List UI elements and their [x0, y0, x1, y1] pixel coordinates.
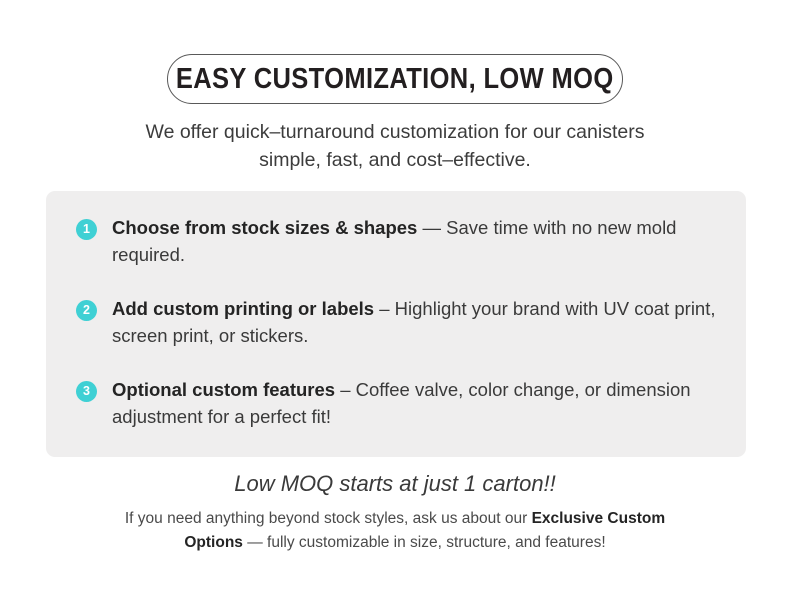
footer-line-2: Options — fully customizable in size, st…	[0, 531, 790, 555]
subtitle-line-2: simple, fast, and cost–effective.	[0, 146, 790, 174]
page-title: EASY CUSTOMIZATION, LOW MOQ	[176, 65, 614, 94]
promo-page: EASY CUSTOMIZATION, LOW MOQ We offer qui…	[0, 0, 790, 609]
footer-note: If you need anything beyond stock styles…	[0, 507, 790, 555]
feature-text: Add custom printing or labels – Highligh…	[112, 295, 720, 349]
subtitle-line-1: We offer quick–turnaround customization …	[0, 118, 790, 146]
feature-item: 3 Optional custom features – Coffee valv…	[76, 376, 720, 430]
footer-line-1: If you need anything beyond stock styles…	[0, 507, 790, 531]
subtitle: We offer quick–turnaround customization …	[0, 118, 790, 174]
title-pill-container: EASY CUSTOMIZATION, LOW MOQ	[0, 54, 790, 104]
title-pill: EASY CUSTOMIZATION, LOW MOQ	[167, 54, 623, 104]
footer-line-1-prefix: If you need anything beyond stock styles…	[125, 510, 532, 527]
features-panel: 1 Choose from stock sizes & shapes — Sav…	[46, 191, 746, 457]
step-number-badge: 2	[76, 300, 97, 321]
step-number-badge: 1	[76, 219, 97, 240]
feature-lead: Optional custom features	[112, 379, 335, 400]
feature-item: 1 Choose from stock sizes & shapes — Sav…	[76, 214, 720, 268]
feature-text: Optional custom features – Coffee valve,…	[112, 376, 720, 430]
moq-note: Low MOQ starts at just 1 carton!!	[0, 469, 790, 499]
footer-line-2-rest: — fully customizable in size, structure,…	[243, 534, 606, 551]
footer-line-2-bold: Options	[184, 534, 243, 551]
feature-text: Choose from stock sizes & shapes — Save …	[112, 214, 720, 268]
feature-item: 2 Add custom printing or labels – Highli…	[76, 295, 720, 349]
step-number-badge: 3	[76, 381, 97, 402]
feature-lead: Add custom printing or labels	[112, 298, 374, 319]
feature-lead: Choose from stock sizes & shapes	[112, 217, 417, 238]
footer-line-1-bold: Exclusive Custom	[532, 510, 666, 527]
